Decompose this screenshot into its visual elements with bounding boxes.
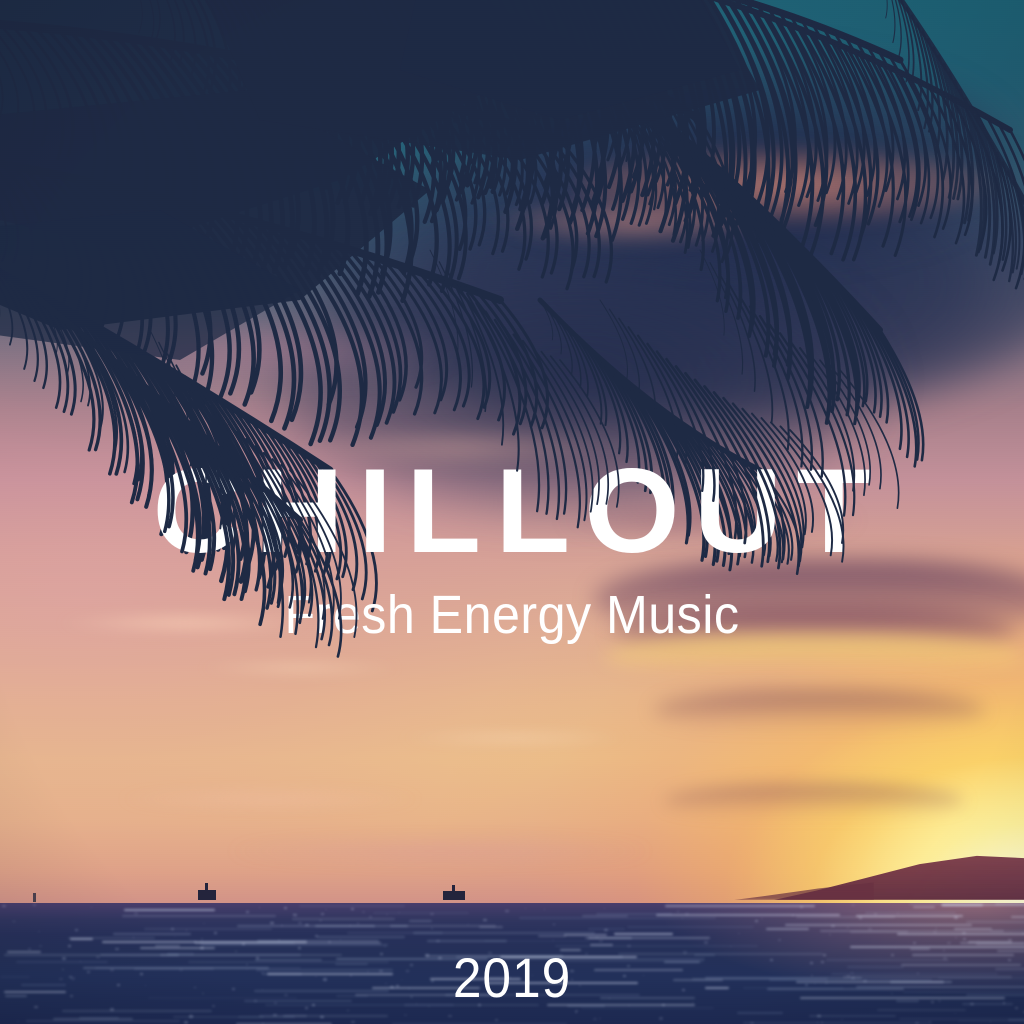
text-layer: CHILLOUT Fresh Energy Music 2019 — [0, 0, 1024, 1024]
album-year: 2019 — [41, 948, 983, 1008]
album-cover: CHILLOUT Fresh Energy Music 2019 — [0, 0, 1024, 1024]
album-title: CHILLOUT — [0, 452, 1024, 570]
album-subtitle: Fresh Energy Music — [36, 586, 988, 644]
